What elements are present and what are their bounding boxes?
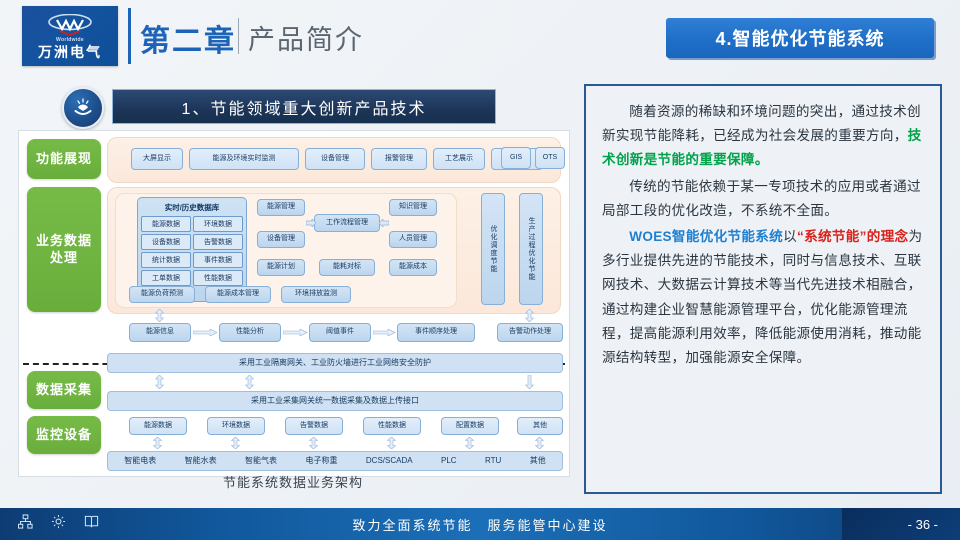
layer-label-devices-text: 监控设备 <box>36 427 92 443</box>
arrow-updown-icon <box>155 309 164 322</box>
database-grid: 能源数据 环境数据 设备数据 告警数据 统计数据 事件数据 工单数据 性能数据 <box>141 216 243 286</box>
process-box[interactable]: 能源信息 <box>129 323 191 342</box>
device-label[interactable]: 电子称重 <box>305 456 337 465</box>
business-box-row3[interactable]: 能源负荷预测 <box>129 286 195 303</box>
slide-root: Worldwide 万洲电气 第二章 产品简介 4.智能优化节能系统 1、节能领… <box>0 0 960 540</box>
business-box-label: 工作流程管理 <box>326 219 368 227</box>
business-box-knowledge[interactable]: 知识管理 <box>389 199 437 216</box>
database-cell[interactable]: 事件数据 <box>193 252 243 268</box>
slide-title-text: 4.智能优化节能系统 <box>715 25 884 51</box>
arrow-right-icon <box>373 329 395 336</box>
database-cell[interactable]: 告警数据 <box>193 234 243 250</box>
arrow-updown-icon <box>153 437 162 449</box>
paragraph-1-text: 随着资源的稀缺和环境问题的突出，通过技术创新实现节能降耗，已经成为社会发展的重要… <box>602 104 921 143</box>
data-box-label: 环境数据 <box>222 422 250 430</box>
chapter-title: 第二章 <box>140 16 236 60</box>
gateway-bar[interactable]: 采用工业采集网关统一数据采集及数据上传接口 <box>107 391 563 411</box>
vertical-box-production[interactable]: 生产过程优化节能 <box>519 193 543 305</box>
layer-label-devices: 监控设备 <box>27 416 101 454</box>
paragraph-2: 传统的节能依赖于某一专项技术的应用或者通过局部工段的优化改造，不系统不全面。 <box>602 175 924 223</box>
company-logo: Worldwide 万洲电气 <box>22 6 118 66</box>
paragraph-3-product: WOES智能优化节能系统 <box>629 229 783 244</box>
arrow-updown-icon <box>387 437 396 449</box>
database-cell[interactable]: 统计数据 <box>141 252 191 268</box>
paragraph-3-concept: “系统节能”的理念 <box>797 229 908 244</box>
layer-label-collection: 数据采集 <box>27 371 101 409</box>
device-label[interactable]: DCS/SCADA <box>366 456 413 465</box>
business-box-row2[interactable]: 能源成本 <box>389 259 437 276</box>
business-box-label: 能源管理 <box>267 203 295 211</box>
business-box-label: 环境排放监测 <box>295 290 337 298</box>
arrow-down-icon <box>525 375 534 389</box>
business-box-device-mgmt[interactable]: 设备管理 <box>257 231 305 248</box>
arrow-right-icon <box>283 329 307 336</box>
energy-hand-icon <box>62 87 104 129</box>
function-box[interactable]: 能源及环境实时监测 <box>189 148 299 170</box>
logo-company-name: 万洲电气 <box>38 45 102 59</box>
function-box-label: OTS <box>543 154 557 162</box>
security-bar-label: 采用工业隔离网关、工业防火墙进行工业网络安全防护 <box>239 358 431 367</box>
data-box[interactable]: 性能数据 <box>363 417 421 435</box>
data-box-label: 告警数据 <box>300 422 328 430</box>
vertical-box-label: 生产过程优化节能 <box>527 217 535 281</box>
function-box[interactable]: 设备管理 <box>305 148 365 170</box>
database-cell[interactable]: 工单数据 <box>141 270 191 286</box>
device-label[interactable]: PLC <box>441 456 457 465</box>
process-box[interactable]: 阈值事件 <box>309 323 371 342</box>
business-box-label: 设备管理 <box>267 235 295 243</box>
section-title-text: 1、节能领域重大创新产品技术 <box>182 95 427 119</box>
business-box-label: 人员管理 <box>399 235 427 243</box>
process-box-label: 性能分析 <box>236 328 264 336</box>
gateway-bar-label: 采用工业采集网关统一数据采集及数据上传接口 <box>251 396 419 405</box>
security-bar[interactable]: 采用工业隔离网关、工业防火墙进行工业网络安全防护 <box>107 353 563 373</box>
layer-label-business-text: 业务数据 处理 <box>36 233 92 266</box>
function-box-label: 设备管理 <box>321 155 349 163</box>
footer-bar: 致力全面系统节能 服务能管中心建设 - 36 - <box>0 508 960 540</box>
chapter-separator <box>238 18 239 54</box>
business-box-personnel[interactable]: 人员管理 <box>389 231 437 248</box>
arrow-updown-icon <box>309 437 318 449</box>
device-label[interactable]: 智能气表 <box>245 456 277 465</box>
database-title: 实时/历史数据库 <box>141 202 243 213</box>
business-box-label: 能耗对标 <box>333 263 361 271</box>
layer-label-collection-text: 数据采集 <box>36 382 92 398</box>
paragraph-3: WOES智能优化节能系统以“系统节能”的理念为多行业提供先进的节能技术，同时与信… <box>602 225 924 370</box>
business-box-row3[interactable]: 环境排放监测 <box>281 286 351 303</box>
layer-label-function: 功能展现 <box>27 139 101 179</box>
function-box[interactable]: 大屏显示 <box>131 148 183 170</box>
layer-label-function-text: 功能展现 <box>36 151 92 167</box>
database-cell[interactable]: 环境数据 <box>193 216 243 232</box>
process-box-label: 事件顺序处理 <box>415 328 457 336</box>
data-box-label: 性能数据 <box>378 422 406 430</box>
business-box-workflow[interactable]: 工作流程管理 <box>314 214 380 232</box>
footer-slogan: 致力全面系统节能 服务能管中心建设 <box>0 515 960 534</box>
logo-world-text: Worldwide <box>56 37 84 43</box>
arrow-updown-icon <box>535 437 544 449</box>
function-box-label: 大屏显示 <box>143 155 171 163</box>
function-box-label: GIS <box>510 154 522 162</box>
function-box-label: 工艺展示 <box>445 155 473 163</box>
process-box-label: 告警动作处理 <box>509 328 551 336</box>
business-box-label: 能源负荷预测 <box>141 290 183 298</box>
header-divider <box>128 8 131 64</box>
business-box-label: 能源计划 <box>267 263 295 271</box>
database-cell[interactable]: 能源数据 <box>141 216 191 232</box>
slide-title-badge: 4.智能优化节能系统 <box>666 18 934 58</box>
data-box-label: 其他 <box>533 422 547 430</box>
layer-label-business: 业务数据 处理 <box>27 187 101 312</box>
data-box[interactable]: 告警数据 <box>285 417 343 435</box>
business-box-row3[interactable]: 能源成本管理 <box>205 286 271 303</box>
process-box[interactable]: 告警动作处理 <box>497 323 563 342</box>
arrow-updown-icon <box>525 309 534 322</box>
database-cell[interactable]: 性能数据 <box>193 270 243 286</box>
arrow-updown-icon <box>155 375 164 389</box>
arrow-left-icon <box>379 219 389 227</box>
paragraph-2-text: 传统的节能依赖于某一专项技术的应用或者通过局部工段的优化改造，不系统不全面。 <box>602 179 921 218</box>
function-box-label: 能源及环境实时监测 <box>213 155 276 163</box>
process-box[interactable]: 性能分析 <box>219 323 281 342</box>
device-bar: 智能电表 智能水表 智能气表 电子称重 DCS/SCADA PLC RTU 其他 <box>107 451 563 471</box>
vertical-box-dispatch[interactable]: 优化调度节能 <box>481 193 505 305</box>
logo-mark-icon <box>46 14 94 36</box>
paragraph-3-tail: 为多行业提供先进的节能技术，同时与信息技术、互联网技术、大数据云计算技术等当代先… <box>602 229 922 365</box>
data-box[interactable]: 能源数据 <box>129 417 187 435</box>
arrow-updown-icon <box>245 375 254 389</box>
business-box-row2[interactable]: 能耗对标 <box>319 259 375 276</box>
diagram-caption: 节能系统数据业务架构 <box>18 472 568 491</box>
business-box-label: 能源成本管理 <box>217 290 259 298</box>
data-box[interactable]: 环境数据 <box>207 417 265 435</box>
paragraph-1: 随着资源的稀缺和环境问题的突出，通过技术创新实现节能降耗，已经成为社会发展的重要… <box>602 100 924 173</box>
data-box[interactable]: 其他 <box>517 417 563 435</box>
vertical-box-label: 优化调度节能 <box>489 225 497 273</box>
business-box-label: 知识管理 <box>399 203 427 211</box>
function-box[interactable]: 报警管理 <box>371 148 427 170</box>
arrow-right-icon <box>193 329 217 336</box>
arrow-updown-icon <box>465 437 474 449</box>
architecture-diagram: 功能展现 业务数据 处理 数据采集 监控设备 大屏显示 能源及环境实时监测 设备… <box>18 130 570 477</box>
process-box[interactable]: 事件顺序处理 <box>397 323 475 342</box>
data-box-label: 能源数据 <box>144 422 172 430</box>
process-box-label: 阈值事件 <box>326 328 354 336</box>
process-box-label: 能源信息 <box>146 328 174 336</box>
business-box-energy-mgmt[interactable]: 能源管理 <box>257 199 305 216</box>
footer-corner-tab <box>842 508 960 540</box>
device-label[interactable]: 智能电表 <box>124 456 156 465</box>
paragraph-3-mid: 以 <box>783 229 797 244</box>
business-box-label: 能源成本 <box>399 263 427 271</box>
device-label[interactable]: 其他 <box>530 456 546 465</box>
business-box-row2[interactable]: 能源计划 <box>257 259 305 276</box>
page-number: - 36 - <box>908 517 938 532</box>
device-label[interactable]: RTU <box>485 456 501 465</box>
description-panel: 随着资源的稀缺和环境问题的突出，通过技术创新实现节能降耗，已经成为社会发展的重要… <box>584 84 942 494</box>
function-box-label: 报警管理 <box>385 155 413 163</box>
database-cell[interactable]: 设备数据 <box>141 234 191 250</box>
device-label[interactable]: 智能水表 <box>185 456 217 465</box>
chapter-subtitle: 产品简介 <box>248 18 364 57</box>
arrow-right-icon <box>306 219 316 227</box>
function-box-ots[interactable]: OTS <box>535 147 565 169</box>
function-box[interactable]: 工艺展示 <box>433 148 485 170</box>
arrow-updown-icon <box>231 437 240 449</box>
data-box-label: 配置数据 <box>456 422 484 430</box>
data-box[interactable]: 配置数据 <box>441 417 499 435</box>
function-box-gis[interactable]: GIS <box>501 147 531 169</box>
section-title-bar: 1、节能领域重大创新产品技术 <box>112 89 496 124</box>
